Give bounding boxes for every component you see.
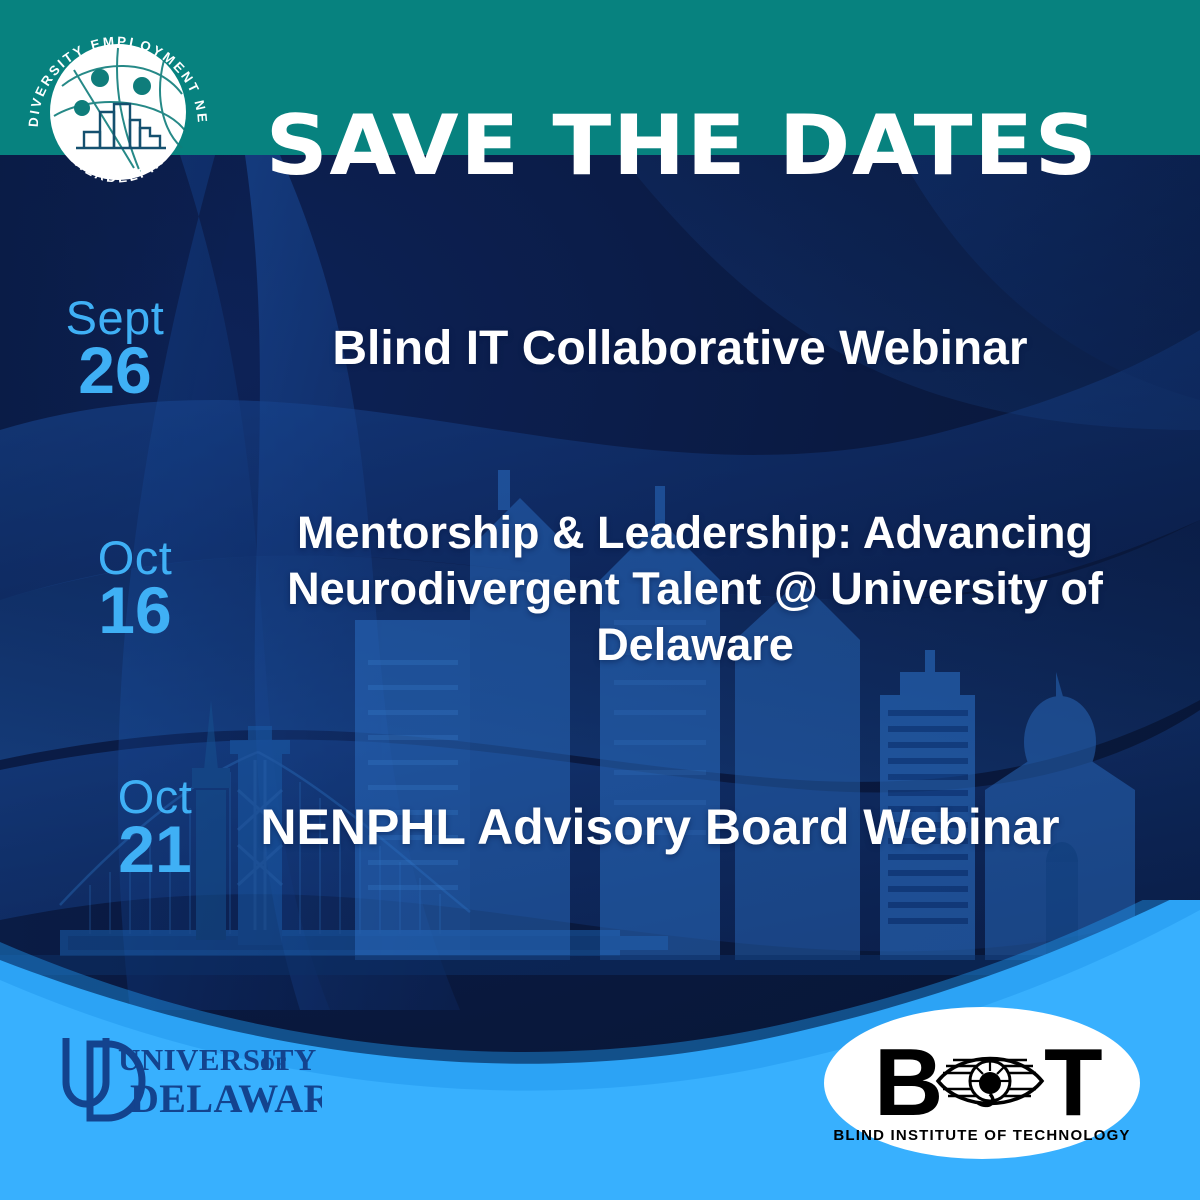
event-title: NENPHL Advisory Board Webinar: [230, 798, 1090, 857]
event-row: Oct 16 Mentorship & Leadership: Advancin…: [60, 505, 1180, 672]
event-date: Sept 26: [40, 296, 190, 401]
save-the-dates-poster: NEURODIVERSITY EMPLOYMENT NETWORK PHILAD…: [0, 0, 1200, 1200]
ud-line1-suffix: OF: [260, 1054, 287, 1075]
bit-wordmark-t: T: [1044, 1029, 1103, 1136]
bit-wordmark-b: B: [874, 1029, 943, 1136]
blind-institute-of-technology-logo: B T BLIND INSTITUTE OF TEC: [822, 1003, 1142, 1163]
event-date: Oct 16: [60, 536, 210, 641]
event-date: Oct 21: [80, 775, 230, 880]
event-day: 26: [40, 339, 190, 402]
page-title: SAVE THE DATES: [214, 104, 1150, 187]
event-row: Sept 26 Blind IT Collaborative Webinar: [40, 296, 1170, 401]
ud-line2: DELAWARE: [130, 1076, 322, 1121]
event-row: Oct 21 NENPHL Advisory Board Webinar: [80, 775, 1090, 880]
bit-tagline: BLIND INSTITUTE OF TECHNOLOGY: [833, 1127, 1130, 1144]
university-of-delaware-logo: UNIVERSITY OF DELAWARE: [52, 1030, 322, 1122]
nenphl-logo: NEURODIVERSITY EMPLOYMENT NETWORK PHILAD…: [14, 8, 222, 216]
event-title: Mentorship & Leadership: Advancing Neuro…: [210, 505, 1180, 672]
event-day: 16: [60, 579, 210, 642]
event-day: 21: [80, 818, 230, 881]
event-title: Blind IT Collaborative Webinar: [190, 322, 1170, 376]
